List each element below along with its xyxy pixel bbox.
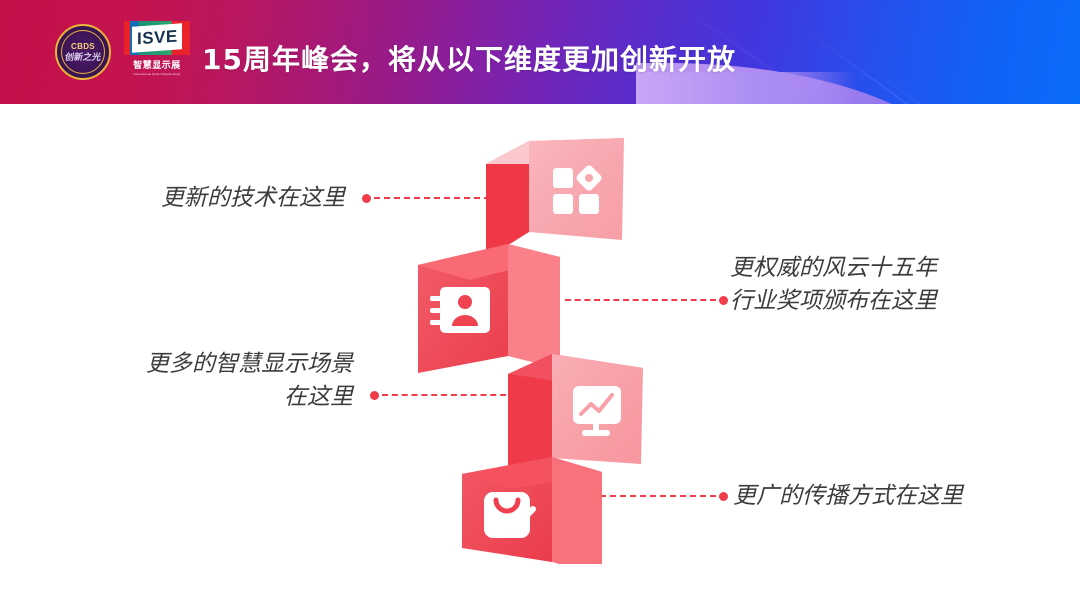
logo-group: CBDS 创新之光 ISVE 智慧显示展 International Smart…: [55, 17, 191, 87]
connector-dot-icon: [370, 391, 379, 400]
cube-3-monitor-chart: [508, 354, 643, 478]
cube-2-id-card: [418, 244, 560, 373]
label-newer-technology: 更新的技术在这里: [40, 182, 345, 215]
label-line-1: 更多的智慧显示场景: [146, 351, 353, 377]
cube-1-grid-diamond: [486, 138, 624, 259]
seal-mark: CBDS 创新之光: [65, 43, 101, 62]
label-line-2: 行业奖项颁布在这里: [730, 285, 1030, 318]
header-light-streak: [859, 60, 1046, 104]
isve-logo-en-text: International Smart Display Expo: [133, 72, 180, 76]
label-line-1: 更广的传播方式在这里: [733, 483, 963, 509]
seal-cn-text: 创新之光: [64, 53, 101, 62]
cube-4-bag-check: [462, 457, 602, 564]
isve-logo-box: ISVE: [124, 21, 190, 55]
isve-logo-text: ISVE: [137, 27, 178, 50]
slide-body: 更新的技术在这里 更权威的风云十五年 行业奖项颁布在这里 更多的智慧显示场景 在…: [0, 104, 1080, 608]
cbds-seal-logo: CBDS 创新之光: [55, 24, 111, 80]
header-light-streak: [789, 18, 1033, 104]
connector-dot-icon: [719, 492, 728, 501]
label-wider-communication: 更广的传播方式在这里: [733, 480, 1033, 513]
connector-dot-icon: [362, 194, 371, 203]
seal-abbr-text: CBDS: [65, 43, 101, 51]
label-line-1: 更权威的风云十五年: [730, 255, 937, 281]
shopping-bag-check-icon: [484, 492, 533, 538]
slide-title: 15周年峰会，将从以下维度更加创新开放: [202, 38, 736, 78]
label-more-smart-display-scenes: 更多的智慧显示场景 在这里: [40, 348, 353, 415]
label-line-2: 在这里: [40, 381, 353, 414]
isve-logo: ISVE 智慧显示展 International Smart Display E…: [123, 21, 191, 83]
label-line-1: 更新的技术在这里: [161, 185, 345, 211]
connector-dot-icon: [719, 296, 728, 305]
label-more-authoritative-award: 更权威的风云十五年 行业奖项颁布在这里: [730, 252, 1030, 319]
presentation-slide: CBDS 创新之光 ISVE 智慧显示展 International Smart…: [0, 0, 1080, 608]
isve-logo-cn-text: 智慧显示展: [133, 58, 181, 71]
slide-header: CBDS 创新之光 ISVE 智慧显示展 International Smart…: [0, 0, 1080, 104]
stacked-3d-cubes: [400, 124, 700, 564]
